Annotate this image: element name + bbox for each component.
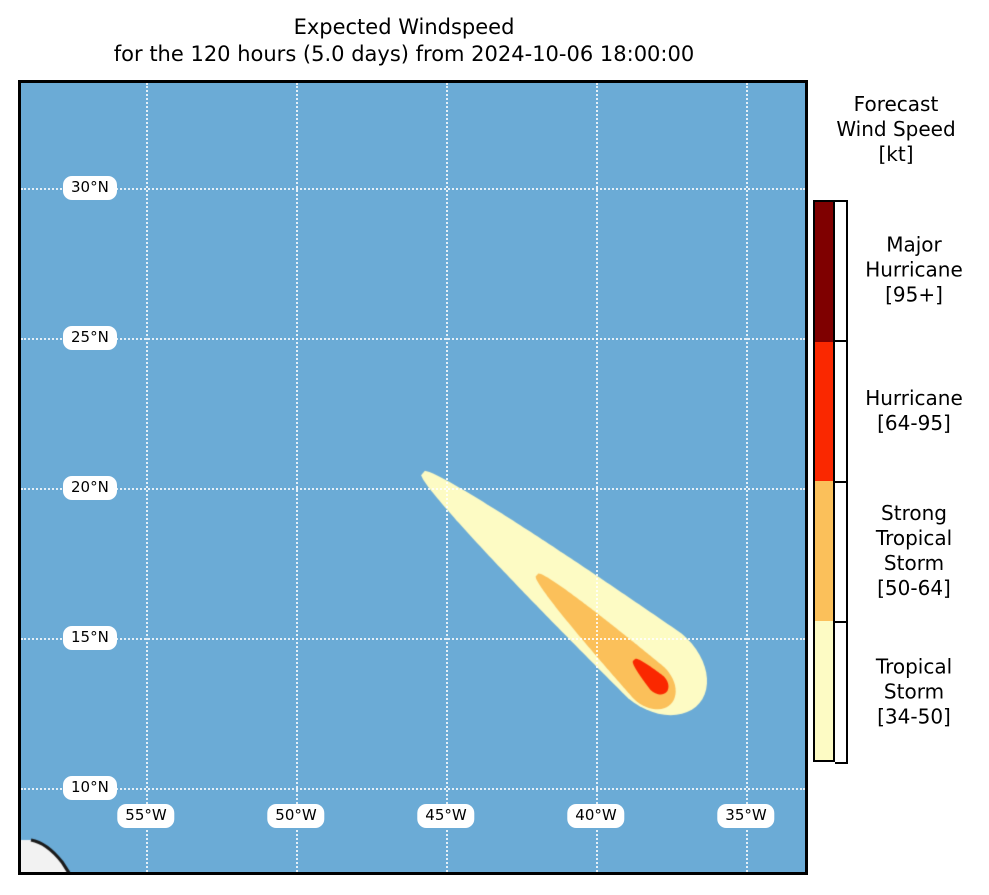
lat-tick-label-15n: 15°N [63, 626, 117, 650]
lat-tick-label-20n: 20°N [63, 476, 117, 500]
colorbar-tick-50 [835, 621, 848, 623]
map-panel[interactable]: 30°N 25°N 20°N 15°N 10°N 55°W 50°W 45°W … [18, 80, 808, 875]
page-title: Expected Windspeed for the 120 hours (5.… [0, 14, 808, 68]
colorbar-label-major-hurricane: Major Hurricane [95+] [840, 233, 988, 308]
colorbar-segment-hurricane[interactable] [815, 342, 833, 482]
colorbar-tick-64 [835, 481, 848, 483]
colorbar-tick-34 [835, 762, 848, 764]
colorbar-label-tropical-storm: Tropical Storm [34-50] [840, 655, 988, 730]
lat-tick-label-30n: 30°N [63, 176, 117, 200]
lon-tick-label-45w: 45°W [417, 804, 474, 828]
colorbar-label-hurricane: Hurricane [64-95] [840, 386, 988, 436]
colorbar-tick-95 [835, 340, 848, 342]
colorbar-title: Forecast Wind Speed [kt] [806, 92, 986, 167]
colorbar-label-strong-tropical-storm: Strong Tropical Storm [50-64] [840, 501, 988, 601]
lon-tick-label-35w: 35°W [717, 804, 774, 828]
colorbar-segment-tropical-storm[interactable] [815, 621, 833, 761]
windspeed-cone-plot [21, 83, 805, 872]
colorbar-tick-top [835, 200, 848, 202]
lon-tick-label-40w: 40°W [567, 804, 624, 828]
colorbar-segment-major-hurricane[interactable] [815, 202, 833, 342]
lon-tick-label-50w: 50°W [267, 804, 324, 828]
colorbar-segment-strong-tropical-storm[interactable] [815, 481, 833, 621]
lat-tick-label-10n: 10°N [63, 776, 117, 800]
lon-tick-label-55w: 55°W [117, 804, 174, 828]
lat-tick-label-25n: 25°N [63, 326, 117, 350]
colorbar[interactable] [813, 200, 835, 762]
